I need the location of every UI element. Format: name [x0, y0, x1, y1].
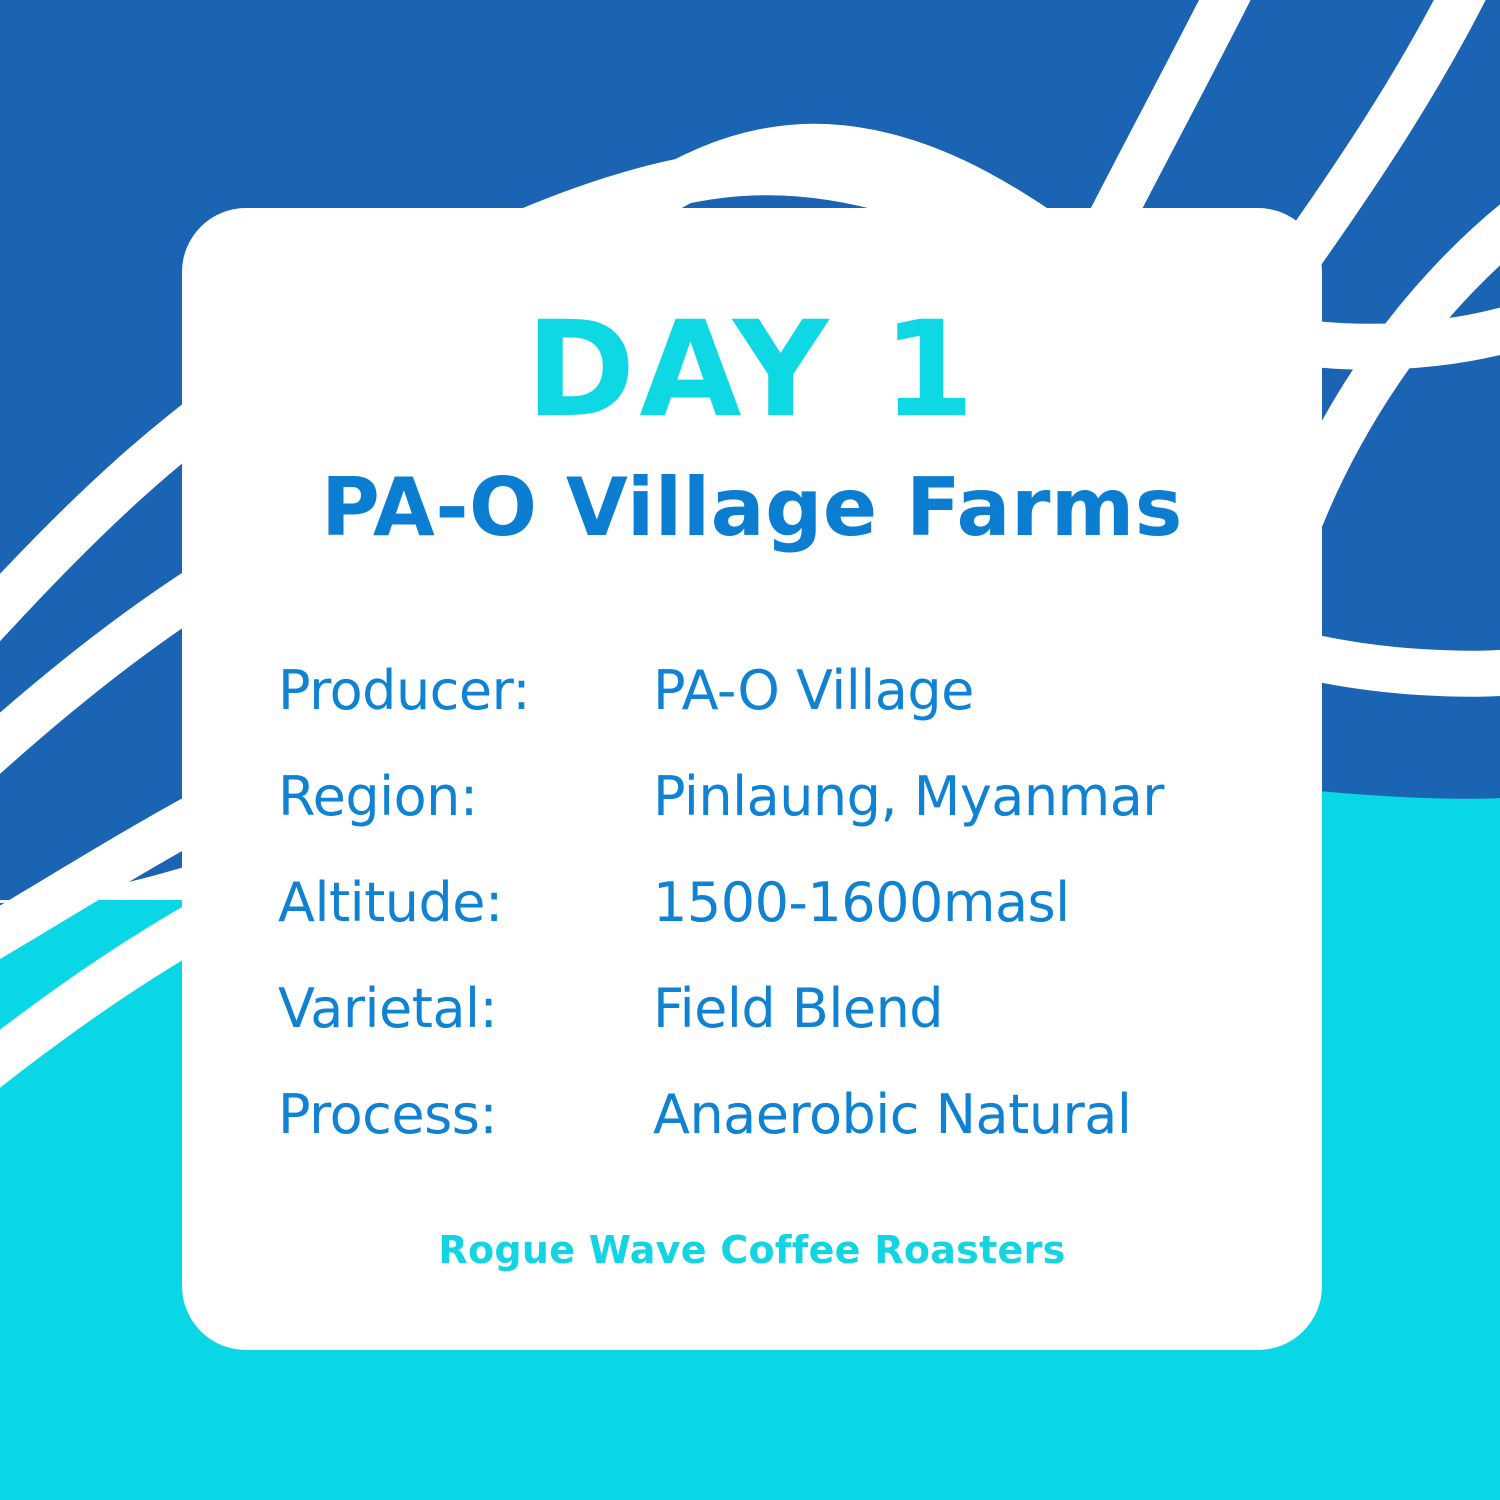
poster-canvas: DAY 1 PA-O Village Farms Producer: PA-O …: [0, 0, 1500, 1500]
page-title: DAY 1: [182, 304, 1322, 436]
spec-value-process: Anaerobic Natural: [653, 1062, 1238, 1168]
spec-value-region: Pinlaung, Myanmar: [653, 744, 1238, 850]
table-row: Process: Anaerobic Natural: [278, 1062, 1238, 1168]
brand-footer: Rogue Wave Coffee Roasters: [182, 1228, 1322, 1272]
spec-value-producer: PA-O Village: [653, 638, 1238, 744]
spec-label-altitude: Altitude:: [278, 850, 653, 956]
table-row: Region: Pinlaung, Myanmar: [278, 744, 1238, 850]
table-row: Varietal: Field Blend: [278, 956, 1238, 1062]
spec-label-producer: Producer:: [278, 638, 653, 744]
table-row: Producer: PA-O Village: [278, 638, 1238, 744]
coffee-spec-table: Producer: PA-O Village Region: Pinlaung,…: [278, 638, 1238, 1168]
spec-value-varietal: Field Blend: [653, 956, 1238, 1062]
table-row: Altitude: 1500-1600masl: [278, 850, 1238, 956]
headline-block: DAY 1 PA-O Village Farms: [182, 304, 1322, 548]
spec-label-process: Process:: [278, 1062, 653, 1168]
spec-value-altitude: 1500-1600masl: [653, 850, 1238, 956]
spec-label-varietal: Varietal:: [278, 956, 653, 1062]
spec-label-region: Region:: [278, 744, 653, 850]
page-subtitle: PA-O Village Farms: [182, 468, 1322, 548]
content-card: DAY 1 PA-O Village Farms Producer: PA-O …: [182, 208, 1322, 1350]
